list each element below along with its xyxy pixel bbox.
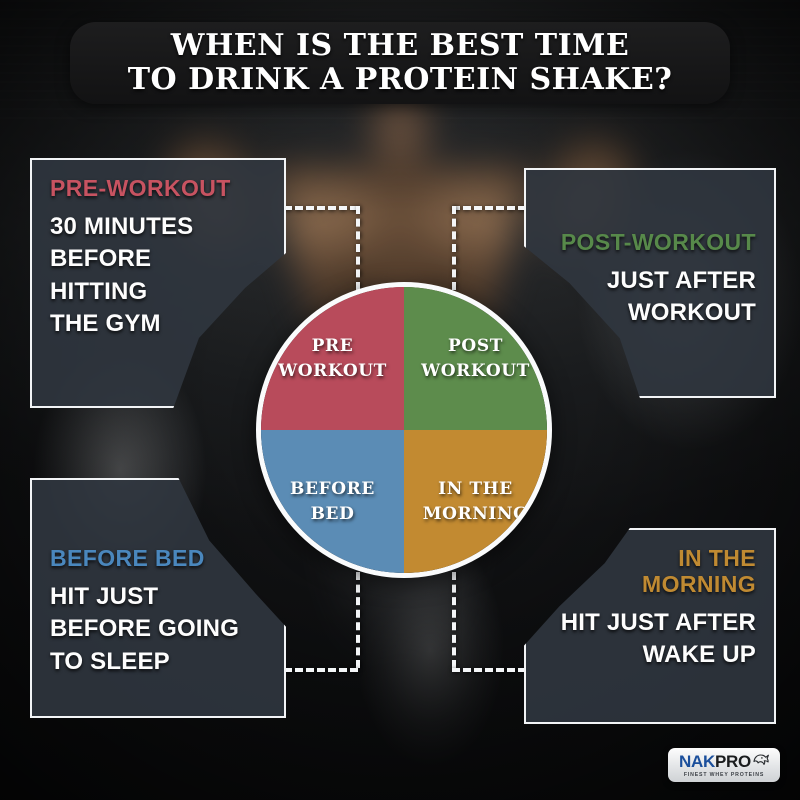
card-post-workout-line-2: WORKOUT xyxy=(628,297,756,329)
wheel-quadrant-post-workout-line-1: POST xyxy=(448,335,503,357)
card-before-bed-line-3: TO SLEEP xyxy=(50,646,266,678)
wheel-quadrant-before-bed-line-1: BEFORE xyxy=(290,478,375,500)
connector-pre-vertical xyxy=(356,206,360,290)
connector-pre-horizontal xyxy=(284,206,358,210)
connector-bed-horizontal xyxy=(284,668,358,672)
page-title: WHEN IS THE BEST TIME TO DRINK A PROTEIN… xyxy=(70,22,730,104)
wheel-quadrant-post-workout-line-2: WORKOUT xyxy=(421,360,530,382)
wheel-quadrant-in-the-morning-line-2: MORNING xyxy=(423,503,529,525)
card-pre-workout-heading: PRE-WORKOUT xyxy=(50,176,266,202)
card-in-the-morning-heading-line-1: IN THE xyxy=(678,546,756,572)
wheel-quadrant-pre-workout-line-1: PRE xyxy=(312,335,354,357)
brand-logo-pro: PRO xyxy=(715,753,751,770)
connector-post-horizontal xyxy=(452,206,526,210)
connector-morning-vertical xyxy=(452,572,456,668)
connector-bed-vertical xyxy=(356,572,360,668)
connector-post-vertical xyxy=(452,206,456,290)
connector-morning-horizontal xyxy=(452,668,526,672)
card-in-the-morning-line-2: WAKE UP xyxy=(643,639,756,671)
card-in-the-morning-heading-line-2: MORNING xyxy=(642,572,756,598)
rhino-icon xyxy=(752,752,769,770)
card-in-the-morning-line-1: HIT JUST AFTER xyxy=(561,607,756,639)
title-line-2: TO DRINK A PROTEIN SHAKE? xyxy=(128,63,673,97)
wheel-quadrant-pre-workout-line-2: WORKOUT xyxy=(278,360,387,382)
card-post-workout-heading: POST-WORKOUT xyxy=(561,230,756,256)
brand-logo-wordmark: NAK PRO xyxy=(679,752,769,770)
timing-wheel: PRE WORKOUT POST WORKOUT BEFORE BED IN T… xyxy=(256,282,552,578)
brand-logo-nak: NAK xyxy=(679,753,715,770)
wheel-quadrant-in-the-morning-line-1: IN THE xyxy=(438,478,513,500)
brand-logo[interactable]: NAK PRO FINEST WHEY PROTEINS xyxy=(668,748,780,782)
card-pre-workout-line-1: 30 MINUTES xyxy=(50,211,266,243)
brand-logo-tagline: FINEST WHEY PROTEINS xyxy=(684,772,764,778)
title-line-1: WHEN IS THE BEST TIME xyxy=(171,29,629,63)
card-post-workout-line-1: JUST AFTER xyxy=(607,265,756,297)
card-pre-workout-line-2: BEFORE xyxy=(50,243,266,275)
card-before-bed-line-1: HIT JUST xyxy=(50,581,266,613)
wheel-quadrant-before-bed-line-2: BED xyxy=(311,503,355,525)
infographic-canvas: WHEN IS THE BEST TIME TO DRINK A PROTEIN… xyxy=(0,0,800,800)
card-before-bed-line-2: BEFORE GOING xyxy=(50,613,266,645)
